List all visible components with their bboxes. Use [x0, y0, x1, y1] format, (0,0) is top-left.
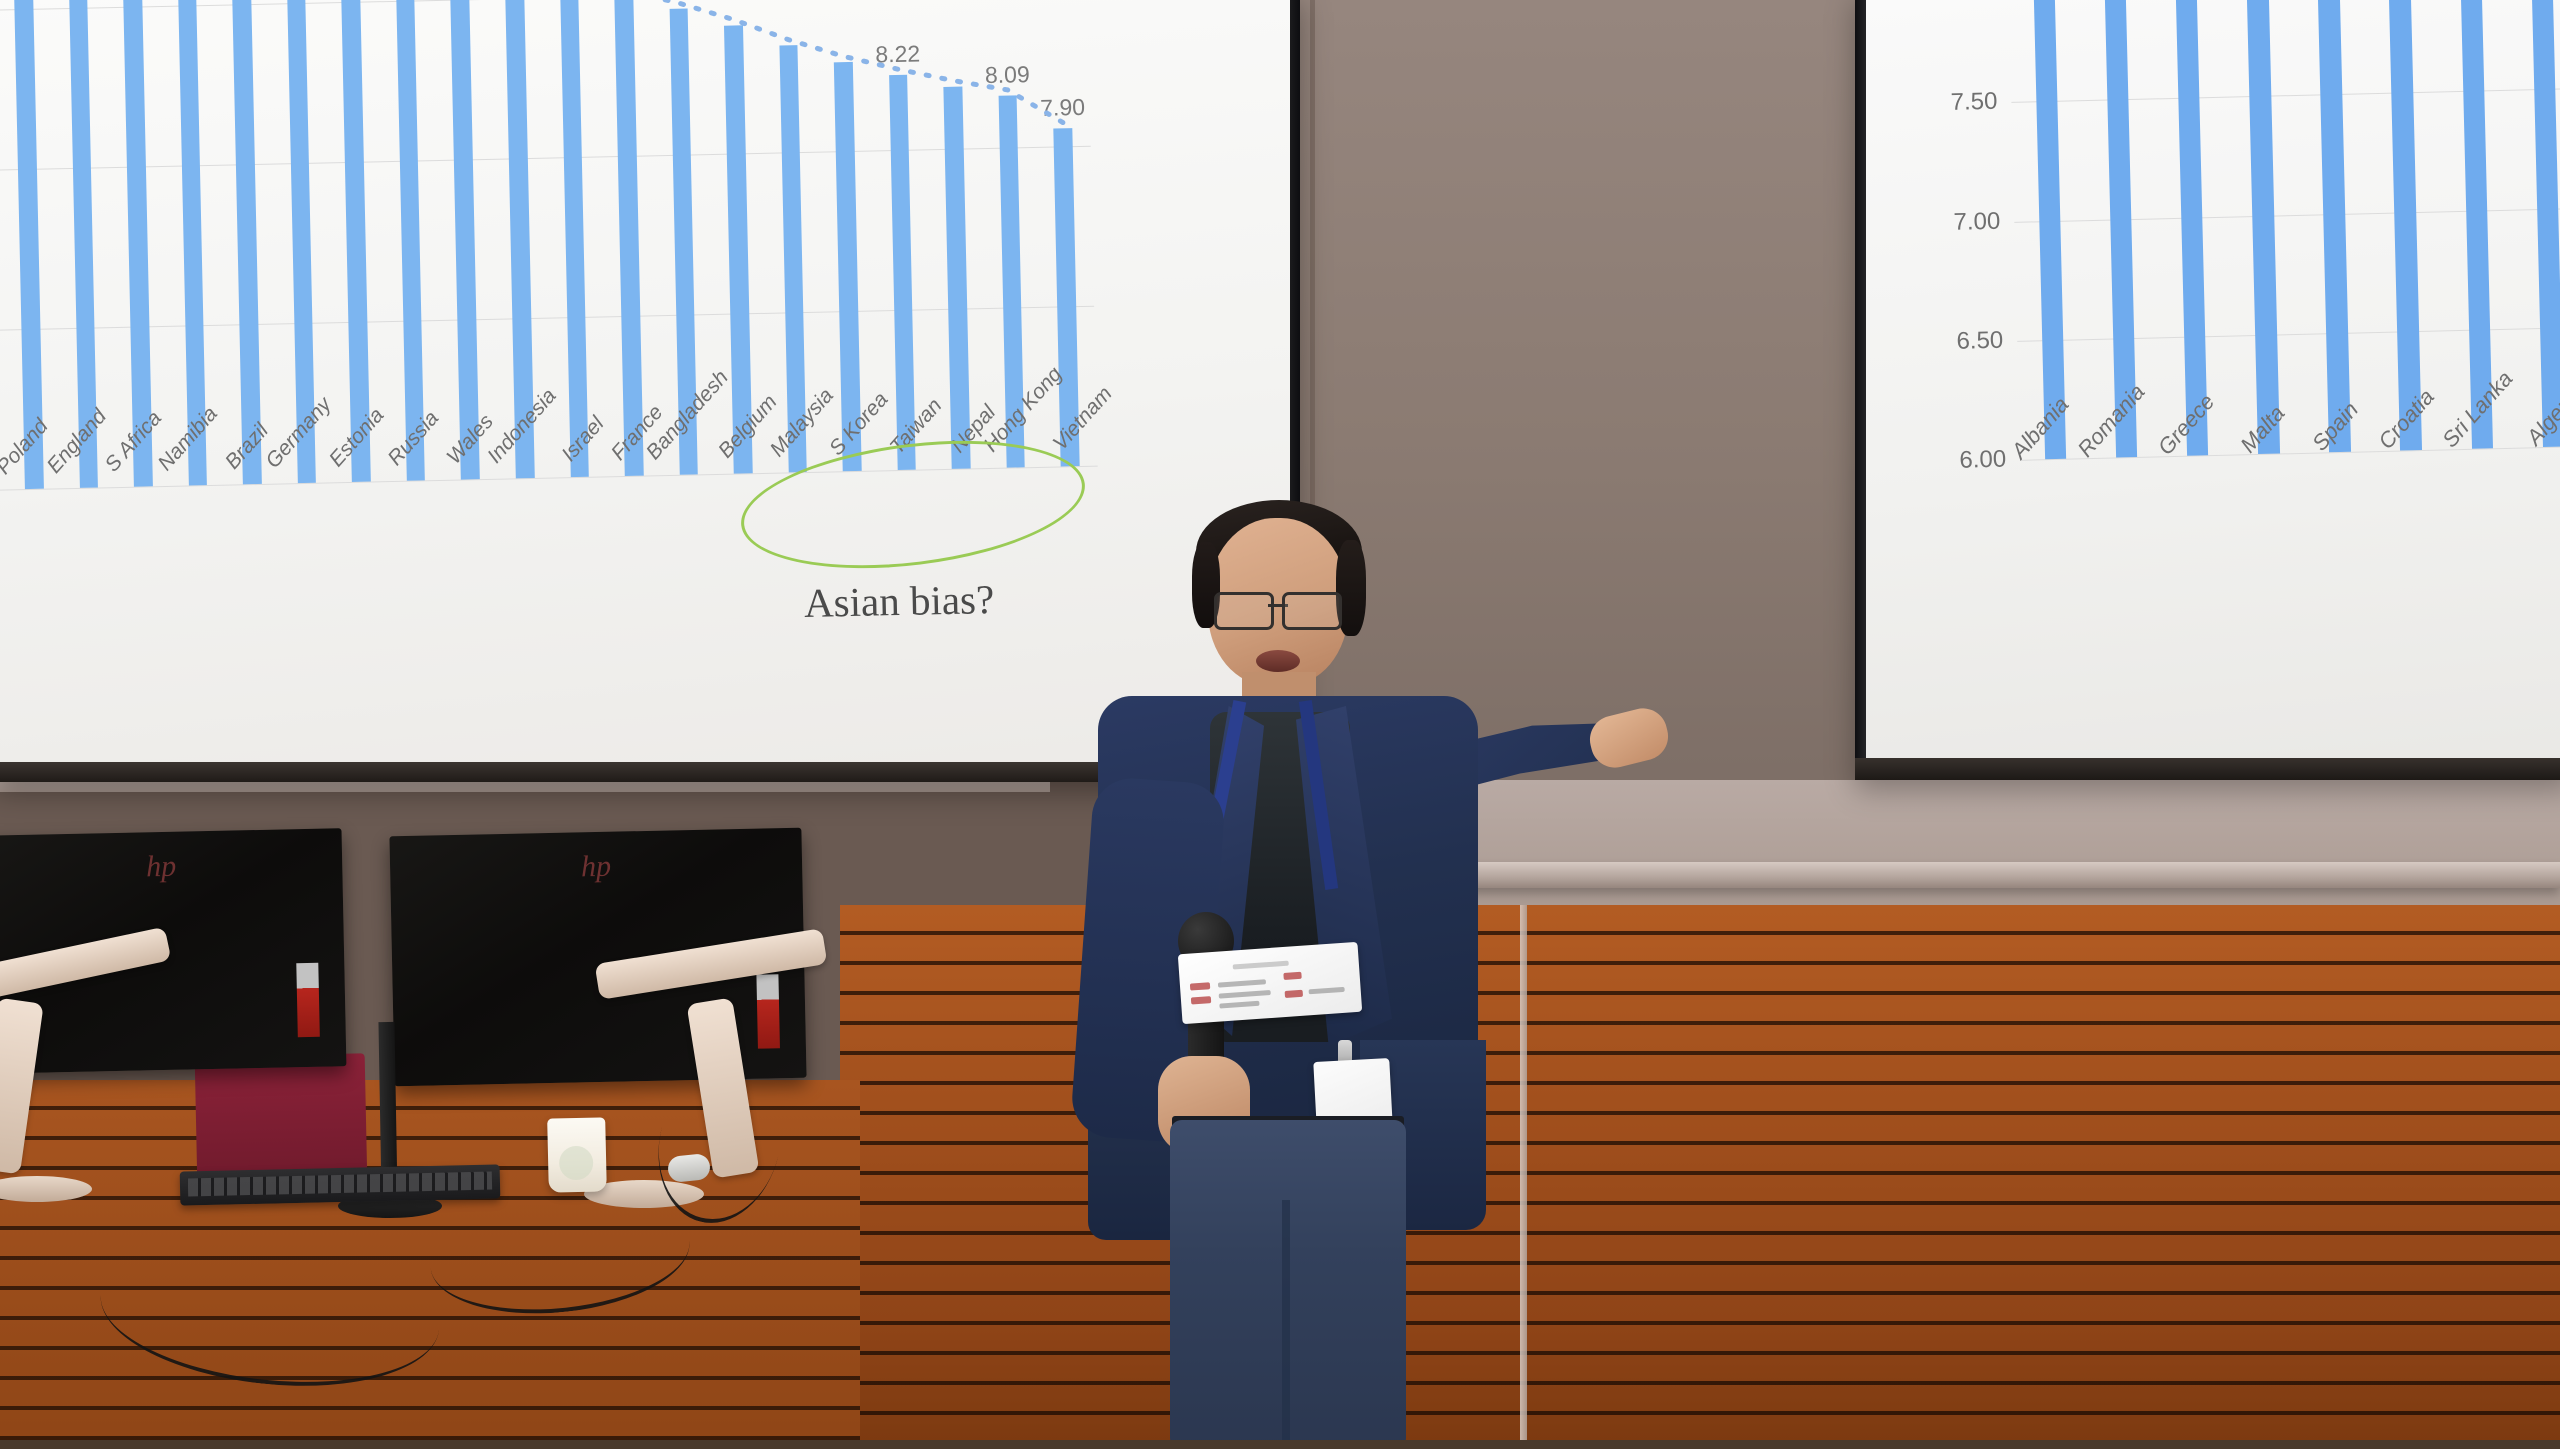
x-axis-label: Algeria — [2516, 430, 2560, 592]
bar — [2315, 0, 2351, 452]
x-axis-label: France — [609, 444, 669, 625]
x-axis-label: Namibia — [161, 454, 221, 635]
slide-annotation-asian-bias: Asian bias? — [804, 575, 995, 627]
x-axis-label: Croatia — [2370, 433, 2447, 595]
x-axis-label: Spain — [2296, 435, 2373, 597]
speaker-mouth — [1256, 650, 1300, 672]
bar — [450, 0, 480, 480]
projection-screen-right: 8.007.507.006.506.00 AlbaniaRomaniaGreec… — [1855, 0, 2560, 780]
bar — [12, 0, 44, 489]
screen-frame-left-edge — [1855, 0, 1866, 780]
x-axis-label: Bangladesh — [664, 443, 724, 624]
bar-item — [2076, 0, 2162, 458]
x-axis-label: Germany — [273, 452, 333, 633]
bar — [2386, 0, 2422, 451]
bar-item — [2218, 0, 2304, 455]
monitor-sticker — [756, 974, 780, 1048]
x-axis-label: Albania — [2003, 443, 2080, 605]
keyboard[interactable] — [180, 1164, 501, 1205]
bar — [944, 86, 971, 469]
eyeglasses-icon — [1214, 592, 1342, 626]
presentation-photo-scene: 8.228.097.90 …landAveragePolandEnglandS … — [0, 0, 2560, 1449]
bar — [2173, 0, 2209, 456]
x-axis-label: Estonia — [329, 451, 389, 632]
screen-frame-bottom-edge-right — [1855, 758, 2560, 780]
bar-value-label: 7.90 — [1040, 94, 1085, 122]
x-axis-label: Brazil — [217, 453, 277, 634]
bar — [560, 0, 589, 477]
chair — [195, 1053, 368, 1187]
speaker — [1060, 500, 1700, 1449]
monitor-sticker — [296, 963, 320, 1037]
eyeglass-lens-left — [1214, 592, 1274, 630]
y-axis-tick-label: 7.50 — [1950, 88, 1997, 117]
keyboard-keys — [188, 1172, 492, 1197]
x-axis-label: Poland — [0, 458, 54, 639]
coffee-cup — [547, 1117, 607, 1192]
x-axis-label: Russia — [385, 449, 445, 630]
bar — [724, 25, 752, 473]
y-axis-tick-label: 7.00 — [1953, 207, 2000, 236]
bar — [2030, 0, 2066, 459]
bar-item — [2289, 0, 2375, 453]
bar-value-label: 8.09 — [985, 61, 1030, 89]
trouser-leg-seam — [1282, 1200, 1290, 1449]
x-axis-label: Malta — [2223, 437, 2300, 599]
x-axis-label: S Africa — [106, 456, 166, 637]
x-axis-label: Romania — [2076, 441, 2153, 603]
bar-item — [2005, 0, 2091, 460]
bar — [2529, 0, 2560, 447]
x-axis-label: Wales — [441, 448, 501, 629]
chart-right-x-axis-labels: AlbaniaRomaniaGreeceMaltaSpainCroatiaSri… — [2003, 428, 2560, 605]
bar — [614, 0, 643, 476]
y-axis-tick-label: 6.00 — [1959, 446, 2006, 475]
x-axis-label: England — [50, 457, 110, 638]
floor-strip — [0, 1440, 2560, 1449]
speaker-pointing-hand — [1585, 703, 1673, 772]
conference-badge-upper — [1178, 942, 1362, 1024]
hp-logo-icon: hp — [146, 850, 177, 885]
bar-value-label: 8.22 — [875, 41, 920, 69]
x-axis-label: Indonesia — [497, 447, 557, 628]
bar — [2244, 0, 2280, 454]
y-axis-tick-label: 6.50 — [1956, 326, 2003, 355]
x-axis-label: Sri Lanka — [2443, 432, 2520, 594]
hp-logo-icon: hp — [581, 850, 612, 885]
bar — [395, 0, 425, 481]
bar — [231, 0, 262, 484]
x-axis-label: Greece — [2150, 439, 2227, 601]
x-axis-label: Israel — [553, 446, 613, 627]
bar-item — [2360, 0, 2446, 451]
eyeglass-lens-right — [1282, 592, 1342, 630]
bar — [889, 75, 916, 470]
bar-item — [2147, 0, 2233, 456]
